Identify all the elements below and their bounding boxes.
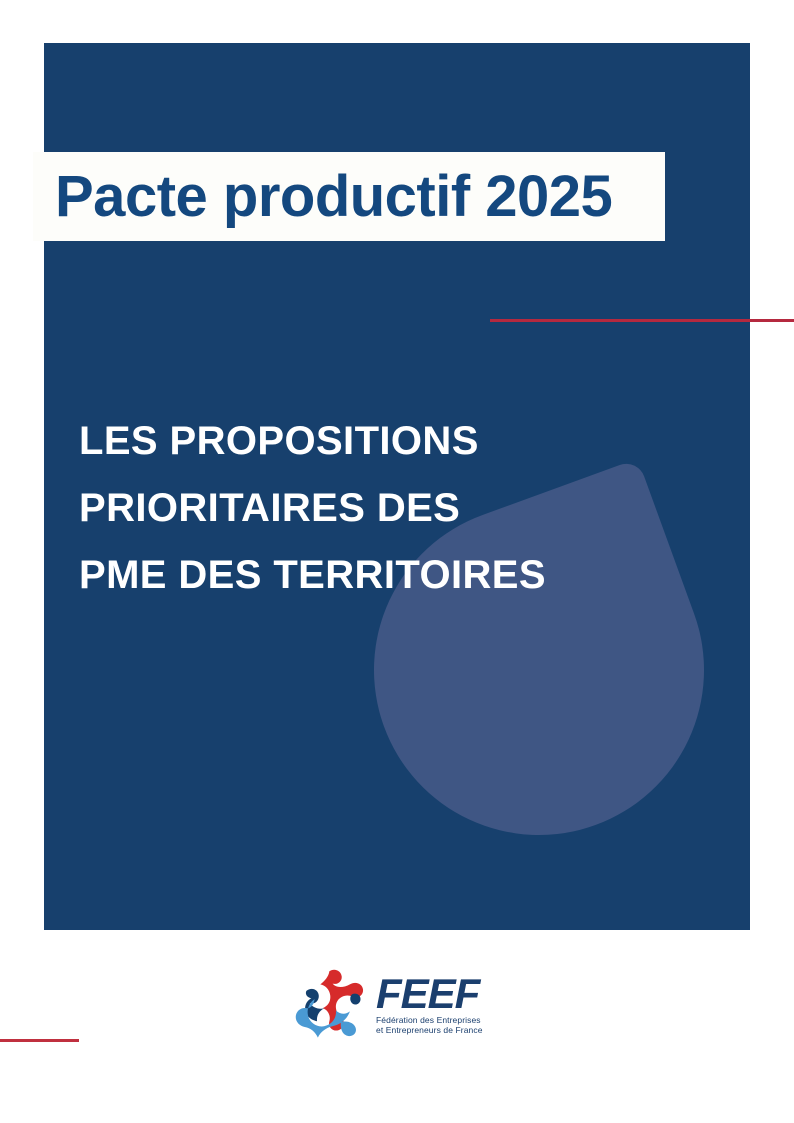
accent-rule-top [490, 319, 794, 322]
page-title: Pacte productif 2025 [33, 168, 612, 226]
feef-emblem-icon [290, 963, 372, 1045]
logo-tagline-line-2: et Entrepreneurs de France [376, 1025, 483, 1036]
subtitle-line-1: LES PROPOSITIONS [79, 408, 679, 475]
feef-logo: FEEF Fédération des Entreprises et Entre… [290, 960, 505, 1048]
logo-wordmark: FEEF [376, 973, 483, 1015]
subtitle-line-2: PRIORITAIRES DES [79, 475, 679, 542]
logo-word-block: FEEF Fédération des Entreprises et Entre… [376, 973, 483, 1036]
subtitle-line-3: PME DES TERRITOIRES [79, 542, 679, 609]
logo-tagline-line-1: Fédération des Entreprises [376, 1015, 483, 1026]
accent-rule-bottom [0, 1039, 79, 1042]
title-band: Pacte productif 2025 [33, 152, 665, 241]
subtitle-block: LES PROPOSITIONS PRIORITAIRES DES PME DE… [79, 408, 679, 609]
cover-page: LES PROPOSITIONS PRIORITAIRES DES PME DE… [0, 0, 794, 1123]
